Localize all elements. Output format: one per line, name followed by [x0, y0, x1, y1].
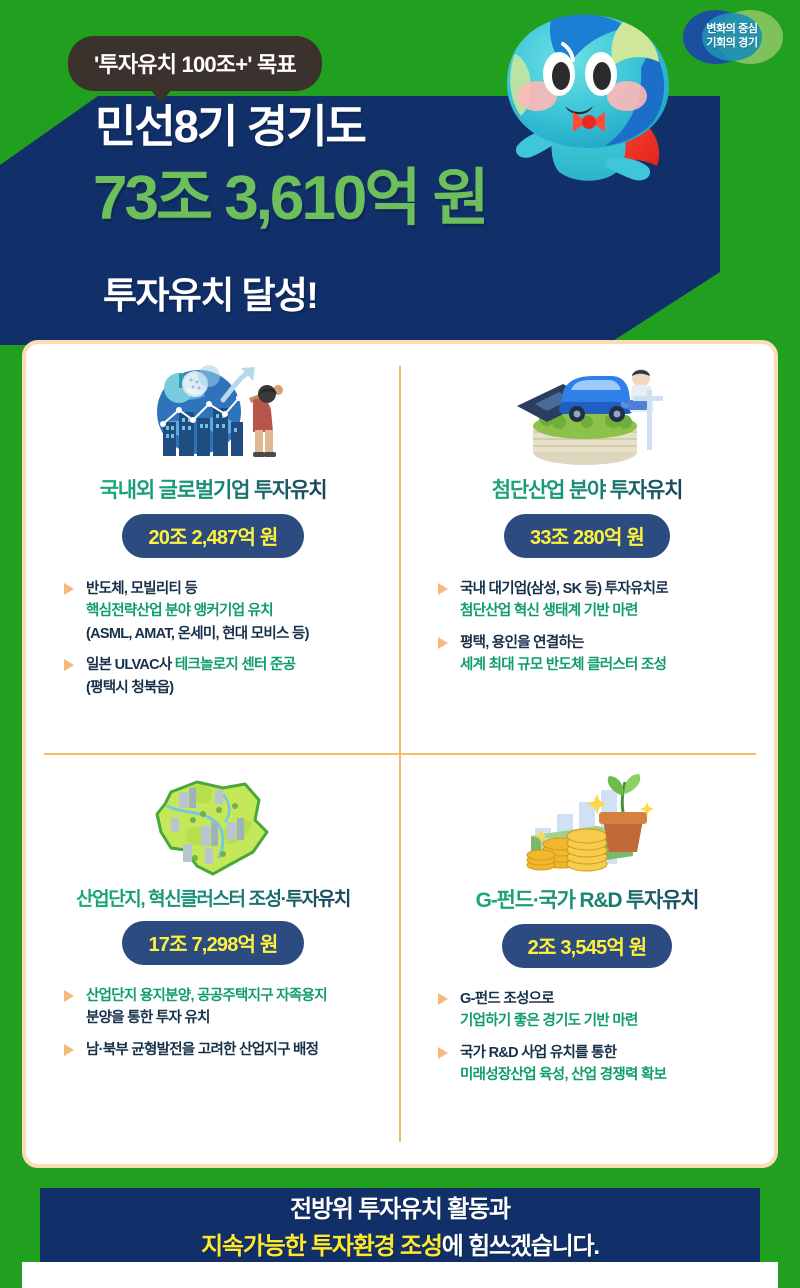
bullet-line-highlight: 첨단산업 혁신 생태계 기반 마련: [460, 600, 754, 622]
bullet-line: G-펀드 조성으로: [460, 988, 754, 1010]
quadrant-global-companies: 국내외 글로벌기업 투자유치 20조 2,487억 원 반도체, 모빌리티 등 …: [26, 344, 400, 754]
quadrant-amount-pill: 17조 7,298억 원: [122, 921, 303, 965]
triangle-bullet-icon: [64, 583, 74, 595]
bullet-line: (평택시 청북읍): [86, 677, 380, 699]
triangle-bullet-icon: [438, 1047, 448, 1059]
triangle-bullet-icon: [64, 1044, 74, 1056]
bullet-line: 반도체, 모빌리티 등: [86, 578, 380, 600]
page-headline: 민선8기 경기도: [95, 104, 365, 149]
bullet-line-highlight: 핵심전략산업 분야 앵커기업 유치: [86, 600, 380, 622]
list-item: 남·북부 균형발전을 고려한 산업지구 배정: [62, 1039, 380, 1061]
quadrant-amount-pill: 33조 280억 원: [504, 514, 670, 558]
bullet-line-highlight: 세계 최대 규모 반도체 클러스터 조성: [460, 654, 754, 676]
list-item: 국가 R&D 사업 유치를 통한 미래성장산업 육성, 산업 경쟁력 확보: [436, 1042, 754, 1087]
triangle-bullet-icon: [64, 659, 74, 671]
quadrant-title: 산업단지, 혁신클러스터 조성·투자유치: [76, 884, 350, 911]
quadrant-title: 국내외 글로벌기업 투자유치: [100, 474, 327, 504]
triangle-bullet-icon: [64, 990, 74, 1002]
globe-telescope-icon: [127, 360, 299, 472]
quadrant-grid: 국내외 글로벌기업 투자유치 20조 2,487억 원 반도체, 모빌리티 등 …: [26, 344, 774, 1164]
quadrant-gfund-rnd: G-펀드·국가 R&D 투자유치 2조 3,545억 원 G-펀드 조성으로 기…: [400, 754, 774, 1164]
bottom-white-strip: [22, 1262, 778, 1288]
bullet-line: (ASML, AMAT, 온세미, 현대 모비스 등): [86, 623, 380, 645]
list-item: 일본 ULVAC사 테크놀로지 센터 준공 (평택시 청북읍): [62, 654, 380, 699]
goal-speech-bubble: '투자유치 100조+' 목표: [68, 36, 322, 91]
bullet-text: 일본 ULVAC사: [86, 657, 175, 673]
total-amount-figure: 73조 3,610억 원: [93, 168, 487, 230]
footer-highlight: 지속가능한 투자환경 조성: [201, 1233, 442, 1260]
bullet-line-highlight: 미래성장산업 육성, 산업 경쟁력 확보: [460, 1064, 754, 1086]
triangle-bullet-icon: [438, 993, 448, 1005]
poster-root: 변화의 중심 기회의 경기 '투자유치 100조+' 목표 민선8기 경기도 7…: [0, 0, 800, 1288]
footer-line-1: 전방위 투자유치 활동과: [290, 1189, 510, 1224]
quadrant-bullet-list: 산업단지 용지분양, 공공주택지구 자족용지 분양을 통한 투자 유치 남·북부…: [46, 985, 380, 1061]
bullet-line-highlight: 산업단지 용지분양, 공공주택지구 자족용지: [86, 985, 380, 1007]
quadrant-industrial-complex: 산업단지, 혁신클러스터 조성·투자유치 17조 7,298억 원 산업단지 용…: [26, 754, 400, 1164]
semiconductor-vehicle-icon: [501, 360, 673, 472]
gyeonggi-map-icon: [127, 770, 299, 882]
footer-rest: 에 힘쓰겠습니다.: [442, 1233, 599, 1260]
quadrant-amount-pill: 20조 2,487억 원: [122, 514, 303, 558]
quadrant-advanced-industry: 첨단산업 분야 투자유치 33조 280억 원 국내 대기업(삼성, SK 등)…: [400, 344, 774, 754]
headline-subline: 투자유치 달성!: [103, 277, 317, 314]
quadrant-title: 첨단산업 분야 투자유치: [492, 474, 682, 504]
list-item: 국내 대기업(삼성, SK 등) 투자유치로 첨단산업 혁신 생태계 기반 마련: [436, 578, 754, 623]
quadrant-bullet-list: G-펀드 조성으로 기업하기 좋은 경기도 기반 마련 국가 R&D 사업 유치…: [420, 988, 754, 1087]
header-section: 변화의 중심 기회의 경기 '투자유치 100조+' 목표 민선8기 경기도 7…: [0, 0, 800, 345]
list-item: 평택, 용인을 연결하는 세계 최대 규모 반도체 클러스터 조성: [436, 632, 754, 677]
bullet-line: 평택, 용인을 연결하는: [460, 632, 754, 654]
gyeonggi-mascot-icon: [455, 8, 695, 223]
quadrant-bullet-list: 반도체, 모빌리티 등 핵심전략산업 분야 앵커기업 유치 (ASML, AMA…: [46, 578, 380, 699]
quadrant-amount-pill: 2조 3,545억 원: [502, 924, 673, 968]
footer-banner: 전방위 투자유치 활동과 지속가능한 투자환경 조성에 힘쓰겠습니다.: [40, 1188, 760, 1262]
quadrant-bullet-list: 국내 대기업(삼성, SK 등) 투자유치로 첨단산업 혁신 생태계 기반 마련…: [420, 578, 754, 677]
bullet-line: 분양을 통한 투자 유치: [86, 1007, 380, 1029]
footer-line-2: 지속가능한 투자환경 조성에 힘쓰겠습니다.: [201, 1226, 599, 1261]
bullet-line: 국가 R&D 사업 유치를 통한: [460, 1042, 754, 1064]
badge-line-2: 기회의 경기: [706, 37, 757, 51]
bullet-line: 일본 ULVAC사 테크놀로지 센터 준공: [86, 654, 380, 676]
list-item: G-펀드 조성으로 기업하기 좋은 경기도 기반 마련: [436, 988, 754, 1033]
triangle-bullet-icon: [438, 637, 448, 649]
bullet-text-highlight: 테크놀로지 센터 준공: [175, 657, 295, 673]
list-item: 반도체, 모빌리티 등 핵심전략산업 분야 앵커기업 유치 (ASML, AMA…: [62, 578, 380, 645]
bullet-line: 국내 대기업(삼성, SK 등) 투자유치로: [460, 578, 754, 600]
badge-line-1: 변화의 중심: [706, 23, 757, 37]
list-item: 산업단지 용지분양, 공공주택지구 자족용지 분양을 통한 투자 유치: [62, 985, 380, 1030]
triangle-bullet-icon: [438, 583, 448, 595]
money-plant-growth-icon: [501, 770, 673, 882]
quadrant-title: G-펀드·국가 R&D 투자유치: [476, 884, 699, 914]
gyeonggi-brand-badge: 변화의 중심 기회의 경기: [680, 6, 784, 68]
bullet-line-highlight: 기업하기 좋은 경기도 기반 마련: [460, 1010, 754, 1032]
bullet-line: 남·북부 균형발전을 고려한 산업지구 배정: [86, 1039, 380, 1061]
content-card: 국내외 글로벌기업 투자유치 20조 2,487억 원 반도체, 모빌리티 등 …: [22, 340, 778, 1168]
